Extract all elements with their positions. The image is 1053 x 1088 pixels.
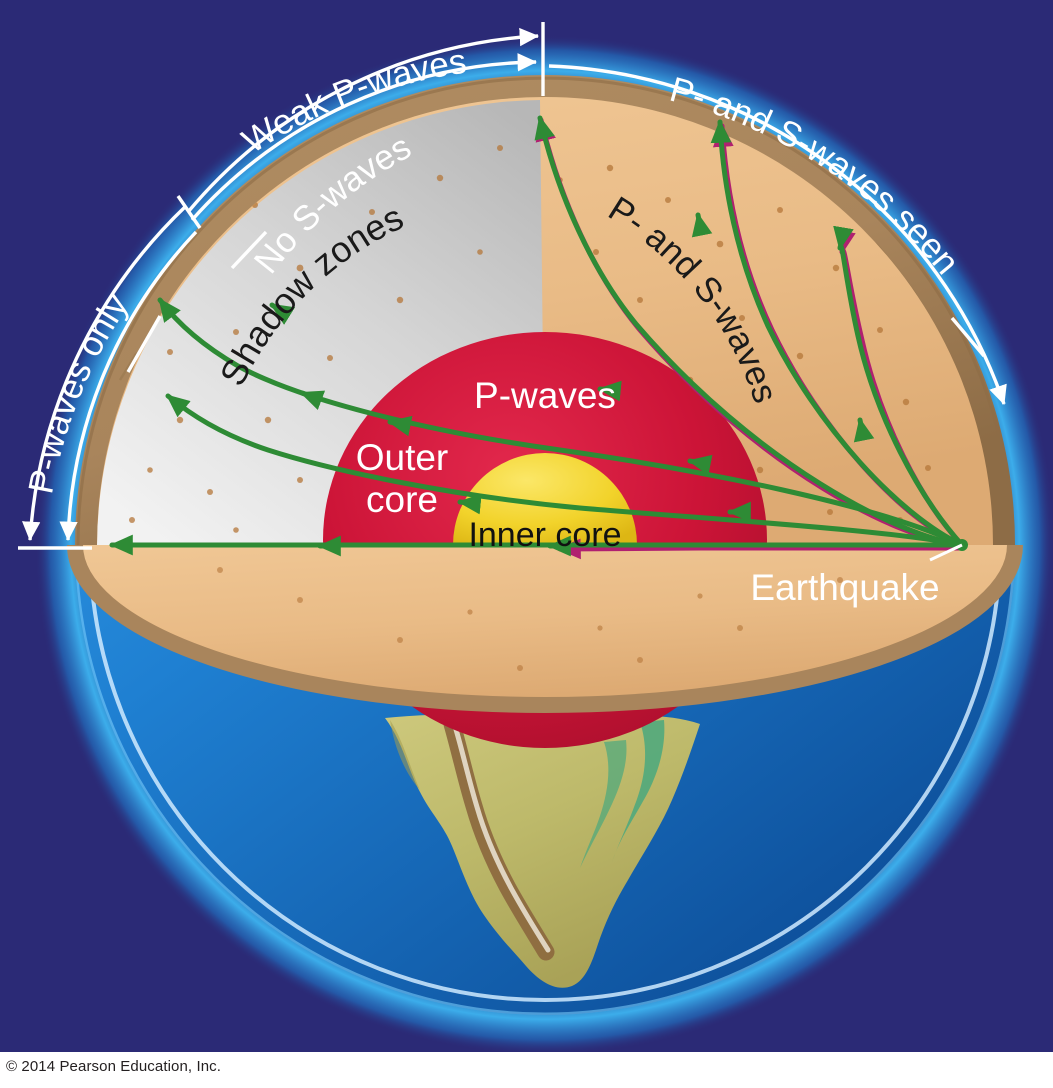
inner-core-label: Inner core	[468, 516, 621, 554]
p-waves-label: P-waves	[474, 375, 616, 416]
p-ray-chevron-1	[690, 461, 700, 463]
outer-core-label-line1: Outercore	[356, 437, 449, 520]
p-ray-chevron-11	[860, 420, 862, 430]
earth-diagram-svg: Shadow zones P- and S-waves P-waves only…	[0, 0, 1053, 1052]
earthquake-label: Earthquake	[750, 567, 939, 608]
figure-page: Shadow zones P- and S-waves P-waves only…	[0, 0, 1053, 1088]
p-ray-chevron-10	[698, 215, 700, 225]
earth-cutaway-figure: Shadow zones P- and S-waves P-waves only…	[0, 0, 1053, 1052]
p-ray-chevron-3	[460, 502, 470, 503]
copyright-credit: © 2014 Pearson Education, Inc.	[6, 1058, 221, 1075]
p-ray-chevron-8	[302, 393, 310, 396]
p-ray-chevron-2	[390, 422, 400, 424]
